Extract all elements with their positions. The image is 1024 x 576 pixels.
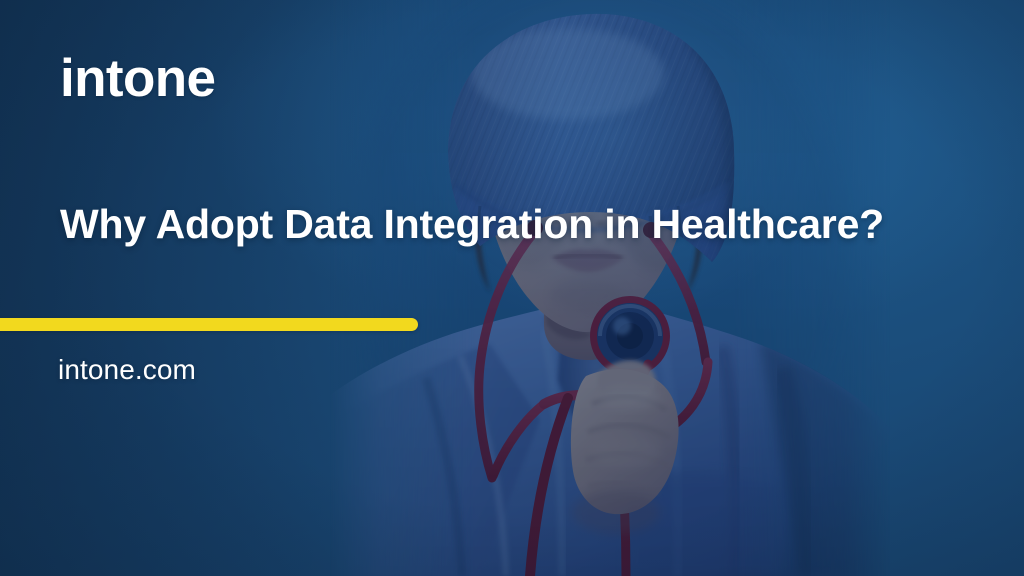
banner-canvas: intone Why Adopt Data Integration in Hea…	[0, 0, 1024, 576]
website-url[interactable]: intone.com	[58, 353, 196, 387]
yellow-accent-rule	[0, 318, 418, 331]
page-title: Why Adopt Data Integration in Healthcare…	[60, 201, 884, 248]
brand-logo[interactable]: intone	[60, 52, 215, 105]
banner-content: intone Why Adopt Data Integration in Hea…	[0, 0, 1024, 576]
